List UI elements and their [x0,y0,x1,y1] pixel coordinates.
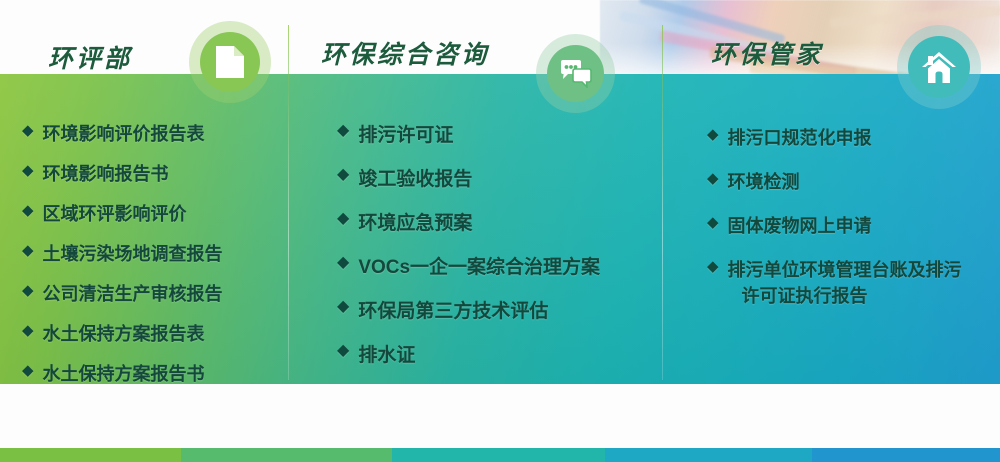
list-item[interactable]: ◆ 环境应急预案 [337,208,662,235]
list-item-label: 环境应急预案 [358,208,472,235]
document-icon-badge[interactable] [200,32,260,92]
list-item-label: 环境影响报告书 [43,160,169,186]
list-item[interactable]: ◆ 公司清洁生产审核报告 [22,280,288,306]
diamond-bullet-icon: ◆ [337,299,349,315]
poster-root: 环评部 ◆ 环境影响评价报告表 ◆ 环境影响报告书 ◆ 区域环评影响评价 ◆ 土… [0,0,1000,462]
diamond-bullet-icon: ◆ [22,123,34,138]
diamond-bullet-icon: ◆ [22,363,34,378]
diamond-bullet-icon: ◆ [707,259,719,274]
list-item-label: 排污许可证 [358,120,453,147]
list-item[interactable]: ◆ VOCs一企一案综合治理方案 [337,252,662,279]
segment-light-green [181,448,392,462]
list-item-label: 公司清洁生产审核报告 [43,280,223,306]
list-item[interactable]: ◆ 排污口规范化申报 [707,124,1000,150]
list-item-label: 排水证 [358,340,415,367]
diamond-bullet-icon: ◆ [22,163,34,178]
list-item-label: 竣工验收报告 [358,164,472,191]
diamond-bullet-icon: ◆ [22,283,34,298]
list-item[interactable]: ◆ 排污许可证 [337,120,662,147]
service-list-3: ◆ 排污口规范化申报 ◆ 环境检测 ◆ 固体废物网上申请 ◆ 排污单位环境管理台… [663,124,1000,308]
list-item[interactable]: ◆ 环保局第三方技术评估 [337,296,662,323]
diamond-bullet-icon: ◆ [22,203,34,218]
list-item-label: 排污口规范化申报 [728,124,872,150]
list-item[interactable]: ◆ 竣工验收报告 [337,164,662,191]
segment-teal [392,448,605,462]
diamond-bullet-icon: ◆ [337,255,349,271]
list-item[interactable]: ◆ 排水证 [337,340,662,367]
list-item[interactable]: ◆ 水土保持方案报告书 [22,360,288,386]
list-item-label: VOCs一企一案综合治理方案 [358,252,600,279]
list-item-label: 区域环评影响评价 [43,200,187,226]
diamond-bullet-icon: ◆ [707,171,719,186]
diamond-bullet-icon: ◆ [707,215,719,230]
chat-icon-badge[interactable] [547,45,604,102]
list-item-label: 环保局第三方技术评估 [358,296,548,323]
list-item[interactable]: ◆ 区域环评影响评价 [22,200,288,226]
diamond-bullet-icon: ◆ [337,343,349,359]
list-item-label: 排污单位环境管理台账及排污 [728,256,962,282]
segment-cyan [605,448,812,462]
list-item-label: 环境影响评价报告表 [43,120,205,146]
bottom-color-strip [0,448,1000,462]
column-title-1: 环评部 [48,39,132,75]
document-icon [216,46,244,78]
list-item[interactable]: ◆ 土壤污染场地调查报告 [22,240,288,266]
list-item[interactable]: ◆ 水土保持方案报告表 [22,320,288,346]
segment-green [0,448,181,462]
diamond-bullet-icon: ◆ [337,211,349,227]
list-item[interactable]: ◆ 排污单位环境管理台账及排污 许可证执行报告 [707,256,1000,308]
column-title-3: 环保管家 [711,35,823,71]
house-icon-badge[interactable] [908,36,970,98]
list-item[interactable]: ◆ 固体废物网上申请 [707,212,1000,238]
list-item[interactable]: ◆ 环境影响评价报告表 [22,120,288,146]
column-title-2: 环保综合咨询 [321,35,489,71]
list-item-label: 水土保持方案报告书 [43,360,205,386]
list-item[interactable]: ◆ 环境检测 [707,168,1000,194]
list-item-label: 水土保持方案报告表 [43,320,205,346]
list-item-label: 固体废物网上申请 [728,212,872,238]
list-item-label: 环境检测 [728,168,800,194]
list-item-label-continued: 许可证执行报告 [742,282,962,308]
diamond-bullet-icon: ◆ [337,123,349,139]
list-item[interactable]: ◆ 环境影响报告书 [22,160,288,186]
house-icon [922,52,956,83]
chat-bubble-icon [560,60,592,88]
segment-blue [812,448,1000,462]
service-list-2: ◆ 排污许可证 ◆ 竣工验收报告 ◆ 环境应急预案 ◆ VOCs一企一案综合治理… [289,120,662,367]
service-list-1: ◆ 环境影响评价报告表 ◆ 环境影响报告书 ◆ 区域环评影响评价 ◆ 土壤污染场… [0,120,288,386]
diamond-bullet-icon: ◆ [707,127,719,142]
diamond-bullet-icon: ◆ [337,167,349,183]
diamond-bullet-icon: ◆ [22,243,34,258]
list-item-label: 土壤污染场地调查报告 [43,240,223,266]
diamond-bullet-icon: ◆ [22,323,34,338]
